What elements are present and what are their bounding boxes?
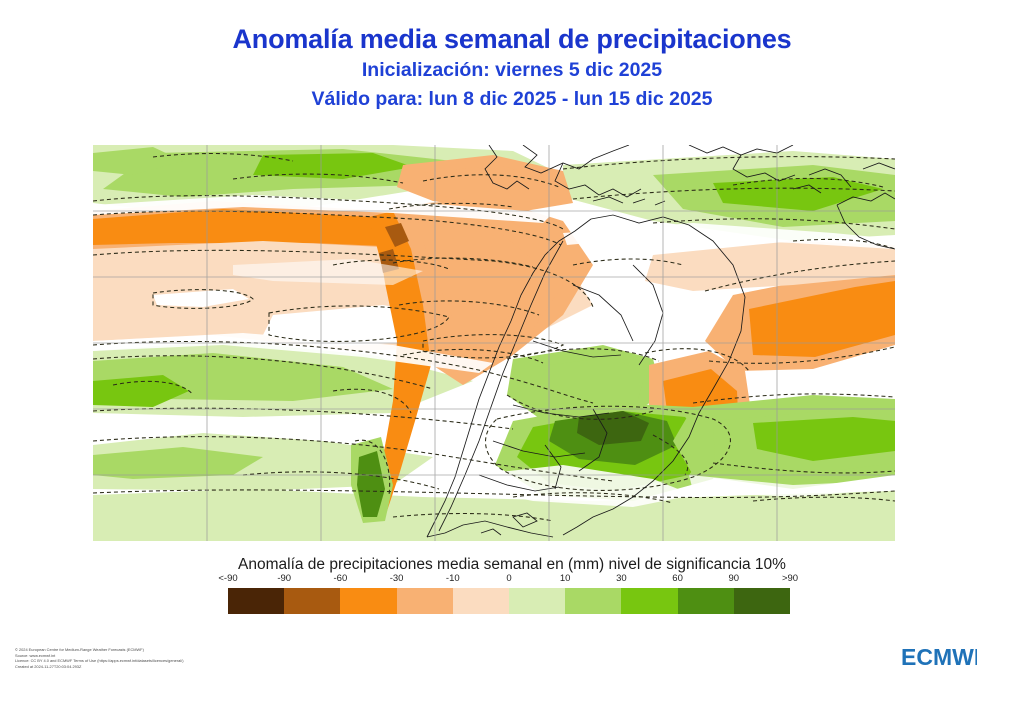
colorbar-tick-6: 10 [560,573,571,584]
colorbar-swatch-3 [397,588,453,614]
colorbar-swatch-6 [565,588,621,614]
title-block: Anomalía media semanal de precipitacione… [0,22,1024,114]
colorbar-swatches [228,588,790,614]
ecmwf-mark-icon [865,644,895,668]
colorbar-swatch-2 [340,588,396,614]
colorbar-swatch-7 [621,588,677,614]
colorbar [228,588,790,614]
credit-line-3: Created at 2024-11-27T20:03:04.293Z [15,664,184,670]
colorbar-tick-2: -60 [334,573,348,584]
initialization-line: Inicialización: viernes 5 dic 2025 [0,56,1024,85]
colorbar-tick-9: 90 [729,573,740,584]
page-title: Anomalía media semanal de precipitacione… [0,22,1024,56]
ecmwf-logo: ECMWF [857,640,977,672]
validity-line: Válido para: lun 8 dic 2025 - lun 15 dic… [0,85,1024,114]
colorbar-swatch-1 [284,588,340,614]
colorbar-tick-5: 0 [506,573,511,584]
colorbar-tick-3: -30 [390,573,404,584]
anomaly-map [93,145,895,541]
colorbar-swatch-5 [509,588,565,614]
anomaly-map-svg [93,145,895,541]
colorbar-tick-4: -10 [446,573,460,584]
credit-line-2: Licence: CC BY 4.0 and ECMWF Terms of Us… [15,658,184,664]
ecmwf-logo-text: ECMWF [901,644,977,670]
colorbar-tick-8: 60 [672,573,683,584]
colorbar-swatch-8 [678,588,734,614]
colorbar-caption: Anomalía de precipitaciones media semana… [0,556,1024,574]
colorbar-tick-labels: <-90-90-60-30-10010306090>90 [228,573,790,587]
credits-block: © 2024 European Centre for Medium-Range … [15,647,184,669]
colorbar-tick-7: 30 [616,573,627,584]
colorbar-swatch-0 [228,588,284,614]
colorbar-tick-1: -90 [277,573,291,584]
colorbar-swatch-4 [453,588,509,614]
colorbar-tick-0: <-90 [218,573,237,584]
colorbar-tick-10: >90 [782,573,798,584]
ecmwf-logo-svg: ECMWF [857,640,977,672]
colorbar-swatch-9 [734,588,790,614]
